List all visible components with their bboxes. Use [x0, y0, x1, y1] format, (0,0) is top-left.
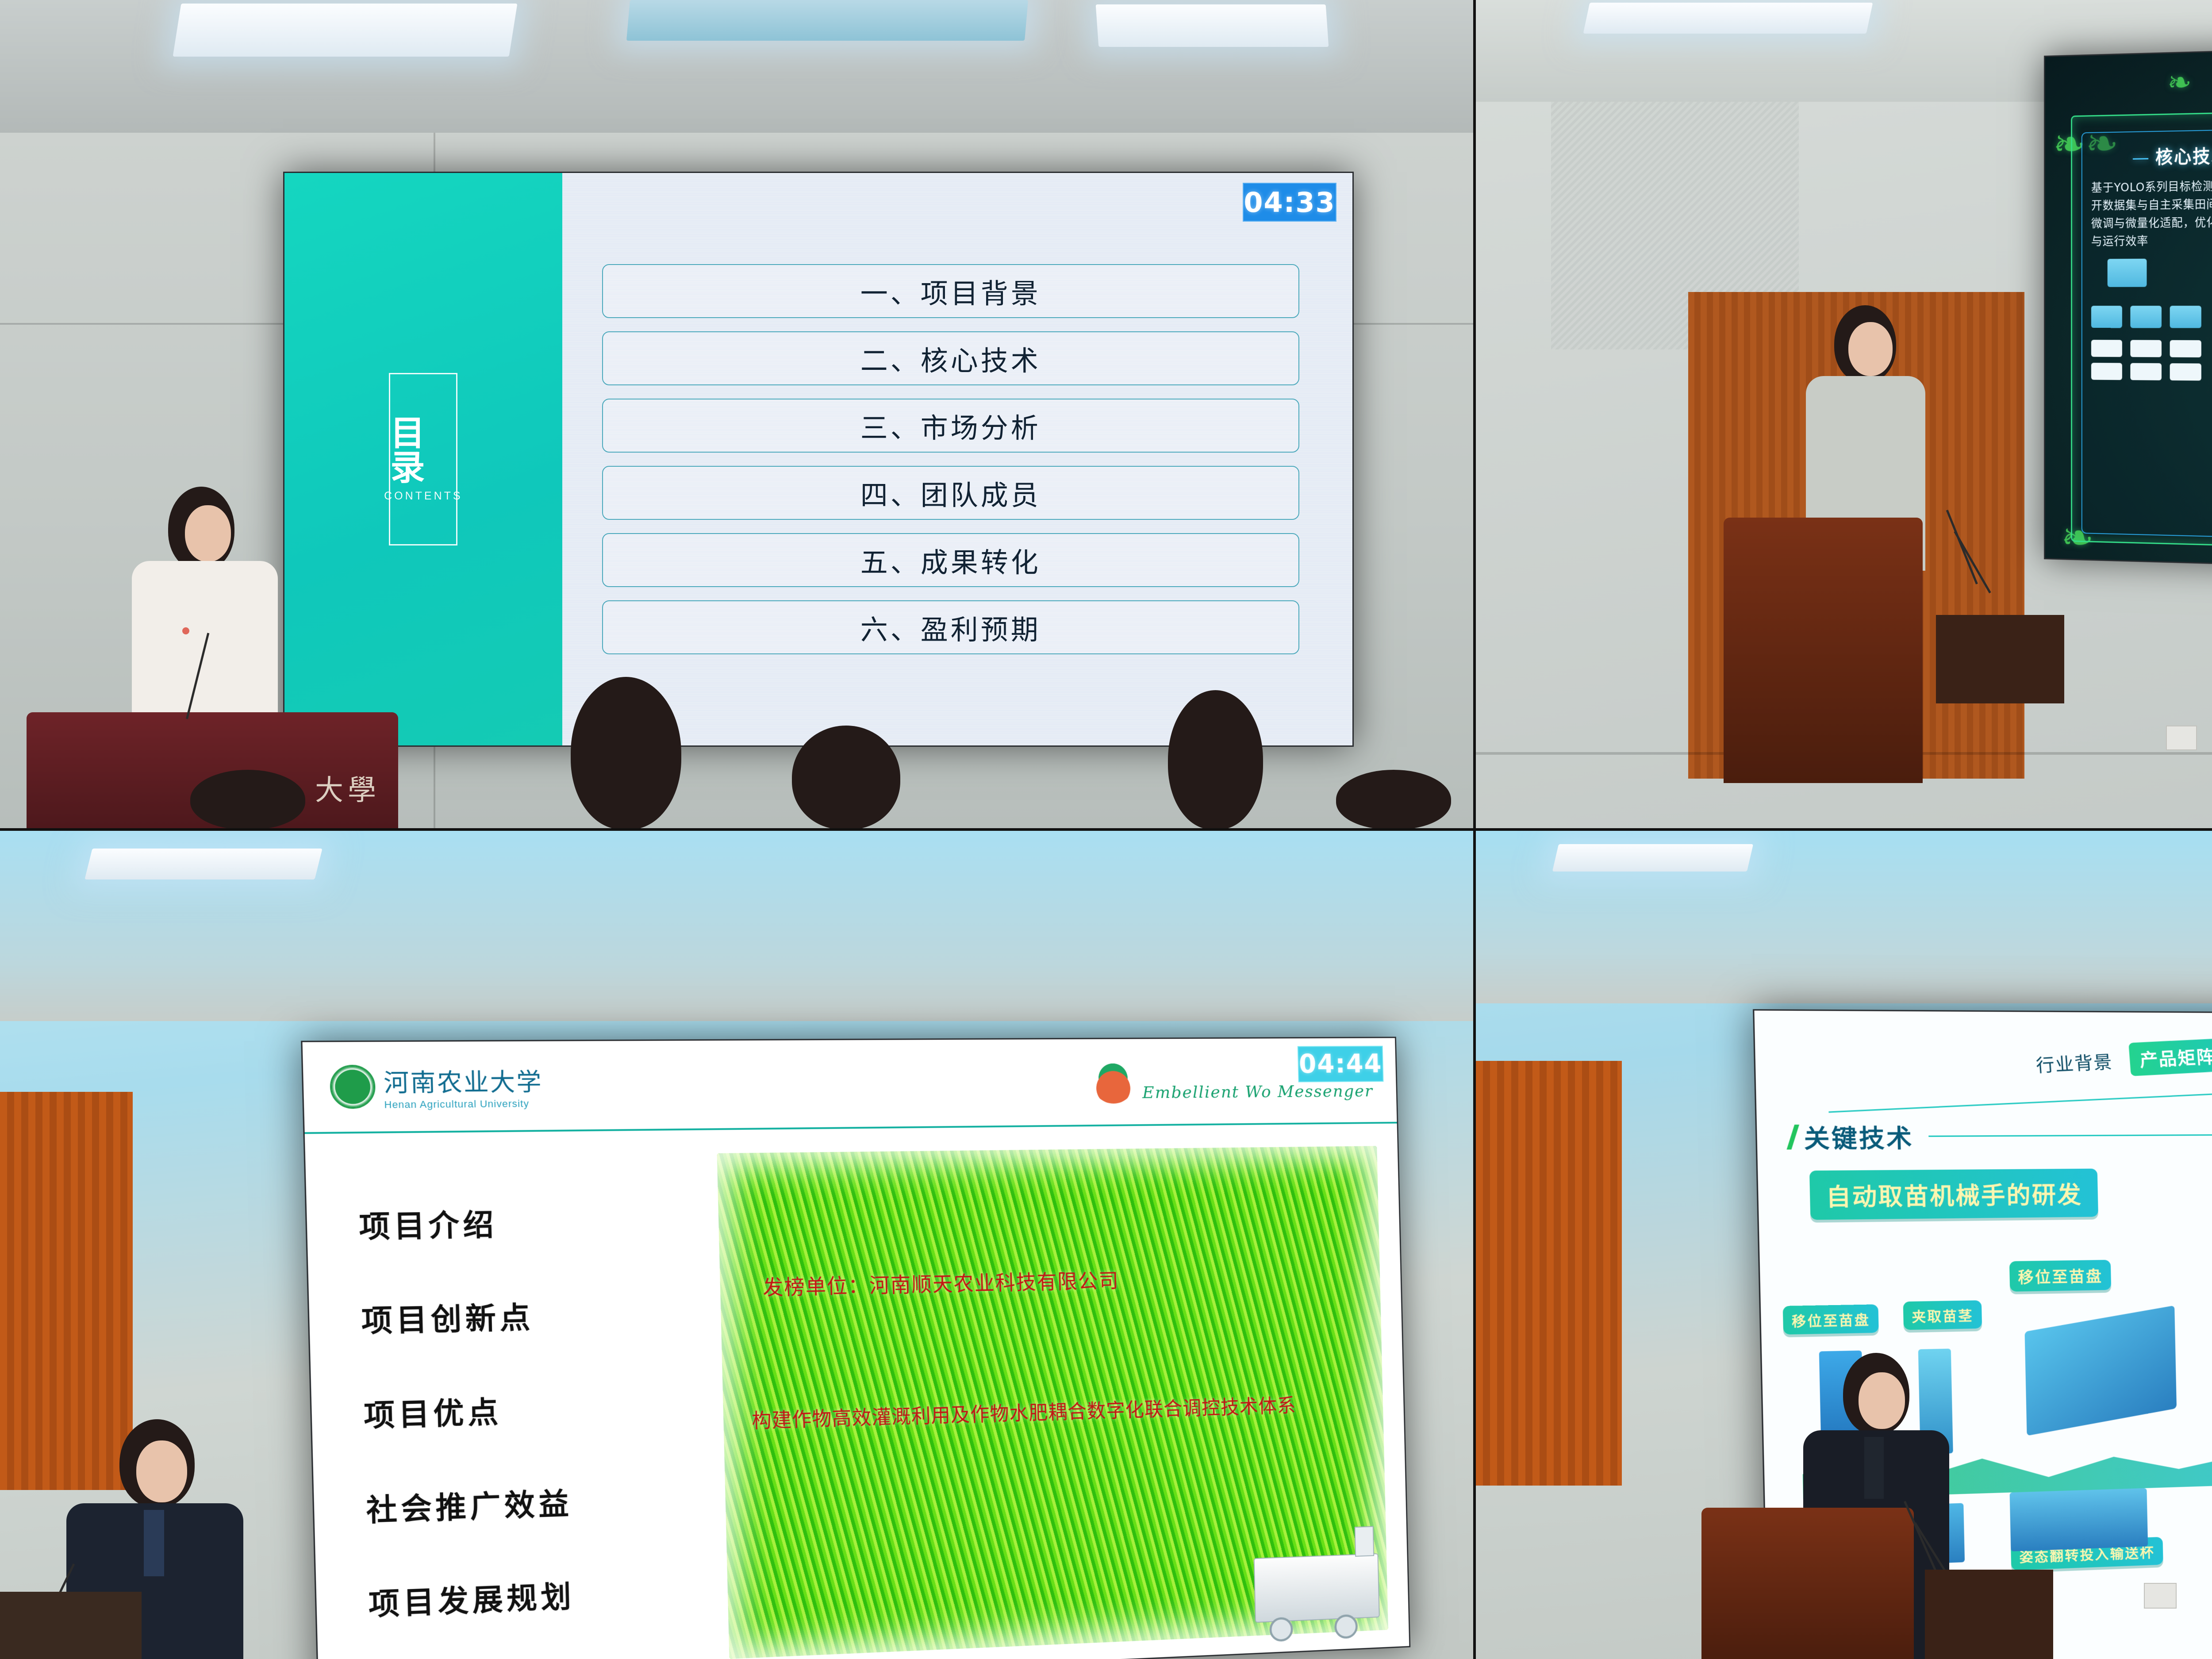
university-seal-icon	[330, 1065, 376, 1109]
toc-item-4[interactable]: 四、团队成员	[602, 466, 1299, 520]
toc-slide: 目录 CONTENTS 一、项目背景 二、核心技术 三、市场分析 四、团队成员 …	[284, 173, 1352, 745]
irrigation-machine-illustration	[1253, 1530, 1392, 1643]
brand-leaf-icon	[1091, 1060, 1135, 1104]
tree-node	[2130, 340, 2162, 357]
panel-top-left: 目录 CONTENTS 一、项目背景 二、核心技术 三、市场分析 四、团队成员 …	[0, 0, 1473, 828]
four-panel-composite: 目录 CONTENTS 一、项目背景 二、核心技术 三、市场分析 四、团队成员 …	[0, 0, 2212, 1659]
column-core-tech: 核心技术 基于YOLO系列目标检测模型，结合公开数据集与自主采集田间样本完成模型…	[2081, 128, 2212, 539]
toc-item-1[interactable]: 一、项目背景	[602, 264, 1299, 318]
agri-slide: 河南农业大学 Henan Agricultural University 润禾使…	[303, 1038, 1409, 1659]
audience-head	[571, 677, 681, 828]
wall-outlet	[2166, 726, 2197, 750]
tree-node	[2170, 306, 2201, 328]
countdown-timer: 04:33	[1243, 183, 1336, 222]
university-name-cn: 河南农业大学	[383, 1062, 543, 1098]
menu-item-1[interactable]: 项目介绍	[358, 1198, 719, 1247]
toc-item-2[interactable]: 二、核心技术	[602, 331, 1299, 385]
presenter-face	[136, 1440, 187, 1502]
presenter-tie	[144, 1510, 164, 1576]
ceiling-light	[1096, 4, 1329, 47]
tree-node	[2130, 363, 2162, 380]
slide-header: 河南农业大学 Henan Agricultural University 润禾使…	[303, 1038, 1397, 1134]
podium	[1701, 1508, 1914, 1659]
university-logo-group: 河南农业大学 Henan Agricultural University	[330, 1062, 544, 1111]
menu-item-3[interactable]: 项目优点	[363, 1382, 723, 1435]
contents-badge: 目录 CONTENTS	[389, 373, 457, 545]
subject-pill: 自动取苗机械手的研发	[1809, 1168, 2098, 1220]
audience-head	[1168, 690, 1263, 828]
machine-cabinet	[1254, 1553, 1380, 1623]
machine-wheel	[1334, 1614, 1358, 1639]
university-name-en: Henan Agricultural University	[384, 1098, 543, 1111]
section-heading-row: 关键技术	[1790, 1117, 2212, 1155]
machine-stack	[1355, 1526, 1375, 1556]
tree-node	[2091, 363, 2122, 380]
pest-slide: ❧❧ ❧❧ ❧ ❧ ❧ ❧ 害虫识别系统技术说明 核心技术 基于YOLO系列目标…	[2045, 33, 2212, 582]
display-screen-toc[interactable]: 目录 CONTENTS 一、项目背景 二、核心技术 三、市场分析 四、团队成员 …	[283, 172, 1354, 747]
display-screen-agri[interactable]: 河南农业大学 Henan Agricultural University 润禾使…	[301, 1037, 1410, 1659]
university-name: 河南农业大学 Henan Agricultural University	[383, 1062, 543, 1110]
ceiling-light	[173, 4, 517, 57]
podium-university-text: 大學	[315, 768, 380, 808]
brand-name-en: Embellient Wo Messenger	[1142, 1081, 1374, 1102]
wood-wall-panel	[1476, 1061, 1622, 1486]
heading-rule	[1928, 1134, 2212, 1137]
presenter-face	[185, 505, 231, 562]
tree-node	[2091, 340, 2122, 357]
speaker-box	[1925, 1570, 2053, 1659]
podium	[1724, 518, 1923, 783]
step-label-3: 移位至苗盘	[2009, 1260, 2111, 1292]
ceiling-light	[1552, 844, 1753, 872]
slide-body: 项目介绍 项目创新点 项目优点 社会推广效益 项目发展规划 发榜单位：河南顺天农…	[305, 1124, 1409, 1659]
screen-surface: ❧❧ ❧❧ ❧ ❧ ❧ ❧ 害虫识别系统技术说明 核心技术 基于YOLO系列目标…	[2045, 33, 2212, 582]
microphone-head	[182, 627, 189, 634]
audience-head	[1336, 770, 1451, 828]
contents-title-cn: 目录	[390, 416, 456, 485]
toc-item-5[interactable]: 五、成果转化	[602, 533, 1299, 587]
agenda-menu: 项目介绍 项目创新点 项目优点 社会推广效益 项目发展规划	[305, 1130, 730, 1659]
panel-bottom-left: 河南农业大学 Henan Agricultural University 润禾使…	[0, 831, 1473, 1659]
nav-tab-industry[interactable]: 行业背景	[2035, 1047, 2114, 1077]
content-columns: 核心技术 基于YOLO系列目标检测模型，结合公开数据集与自主采集田间样本完成模型…	[2081, 117, 2212, 553]
mechanism-illustration	[2025, 1306, 2177, 1436]
screen-surface: 目录 CONTENTS 一、项目背景 二、核心技术 三、市场分析 四、团队成员 …	[284, 173, 1352, 745]
panel-top-right: ❧❧ ❧❧ ❧ ❧ ❧ ❧ 害虫识别系统技术说明 核心技术 基于YOLO系列目标…	[1476, 0, 2212, 828]
menu-item-4[interactable]: 社会推广效益	[365, 1475, 726, 1530]
screen-surface: 河南农业大学 Henan Agricultural University 润禾使…	[303, 1038, 1409, 1659]
menu-item-2[interactable]: 项目创新点	[361, 1290, 721, 1340]
tree-node	[2091, 306, 2122, 328]
tree-node	[2170, 340, 2201, 357]
speaker-box	[1936, 615, 2064, 703]
table	[0, 1592, 142, 1659]
presenter-face	[1859, 1372, 1905, 1429]
toc-item-3[interactable]: 三、市场分析	[602, 399, 1299, 453]
countdown-timer: 04:44	[1298, 1046, 1384, 1083]
ceiling-light	[626, 0, 1028, 41]
ceiling-light	[84, 849, 322, 879]
contents-title-en: CONTENTS	[384, 490, 463, 503]
toc-sidebar: 目录 CONTENTS	[284, 173, 562, 745]
mechanism-illustration	[2010, 1488, 2148, 1551]
column-heading: 核心技术	[2091, 140, 2212, 170]
slide-nav-tabs: 行业背景 产品矩阵 战略营销 团队能力 财务融资 风险应对	[1755, 1010, 2212, 1104]
ceiling-light	[1583, 3, 1873, 34]
wall-outlet	[2144, 1583, 2177, 1609]
audience-head	[792, 726, 900, 828]
toc-list: 一、项目背景 二、核心技术 三、市场分析 四、团队成员 五、成果转化 六、盈利预…	[562, 173, 1352, 745]
tree-node	[2170, 363, 2201, 380]
presenter-face	[1848, 322, 1893, 376]
section-heading: 关键技术	[1804, 1118, 1914, 1155]
architecture-tree-diagram	[2091, 258, 2212, 388]
nav-tab-product-matrix[interactable]: 产品矩阵	[2128, 1038, 2212, 1076]
tree-node	[2108, 259, 2147, 287]
audience-head	[190, 770, 305, 828]
display-screen-pest[interactable]: ❧❧ ❧❧ ❧ ❧ ❧ ❧ 害虫识别系统技术说明 核心技术 基于YOLO系列目标…	[2044, 32, 2212, 584]
machine-wheel	[1269, 1617, 1293, 1642]
step-label-2: 夹取苗茎	[1903, 1300, 1982, 1330]
column-body: 基于YOLO系列目标检测模型，结合公开数据集与自主采集田间样本完成模型微调与微量…	[2091, 177, 2212, 251]
tree-node	[2130, 306, 2162, 328]
toc-item-6[interactable]: 六、盈利预期	[602, 600, 1299, 654]
presenter-tie	[1864, 1437, 1884, 1499]
accent-slash-icon	[1787, 1125, 1800, 1149]
step-label-1: 移位至苗盘	[1783, 1304, 1879, 1334]
hero-image-area: 发榜单位：河南顺天农业科技有限公司 构建作物高效灌溉利用及作物水肥耦合数字化联合…	[716, 1124, 1409, 1659]
panel-bottom-right: 行业背景 产品矩阵 战略营销 团队能力 财务融资 风险应对 关键技术	[1476, 831, 2212, 1659]
menu-item-5[interactable]: 项目发展规划	[368, 1567, 728, 1624]
